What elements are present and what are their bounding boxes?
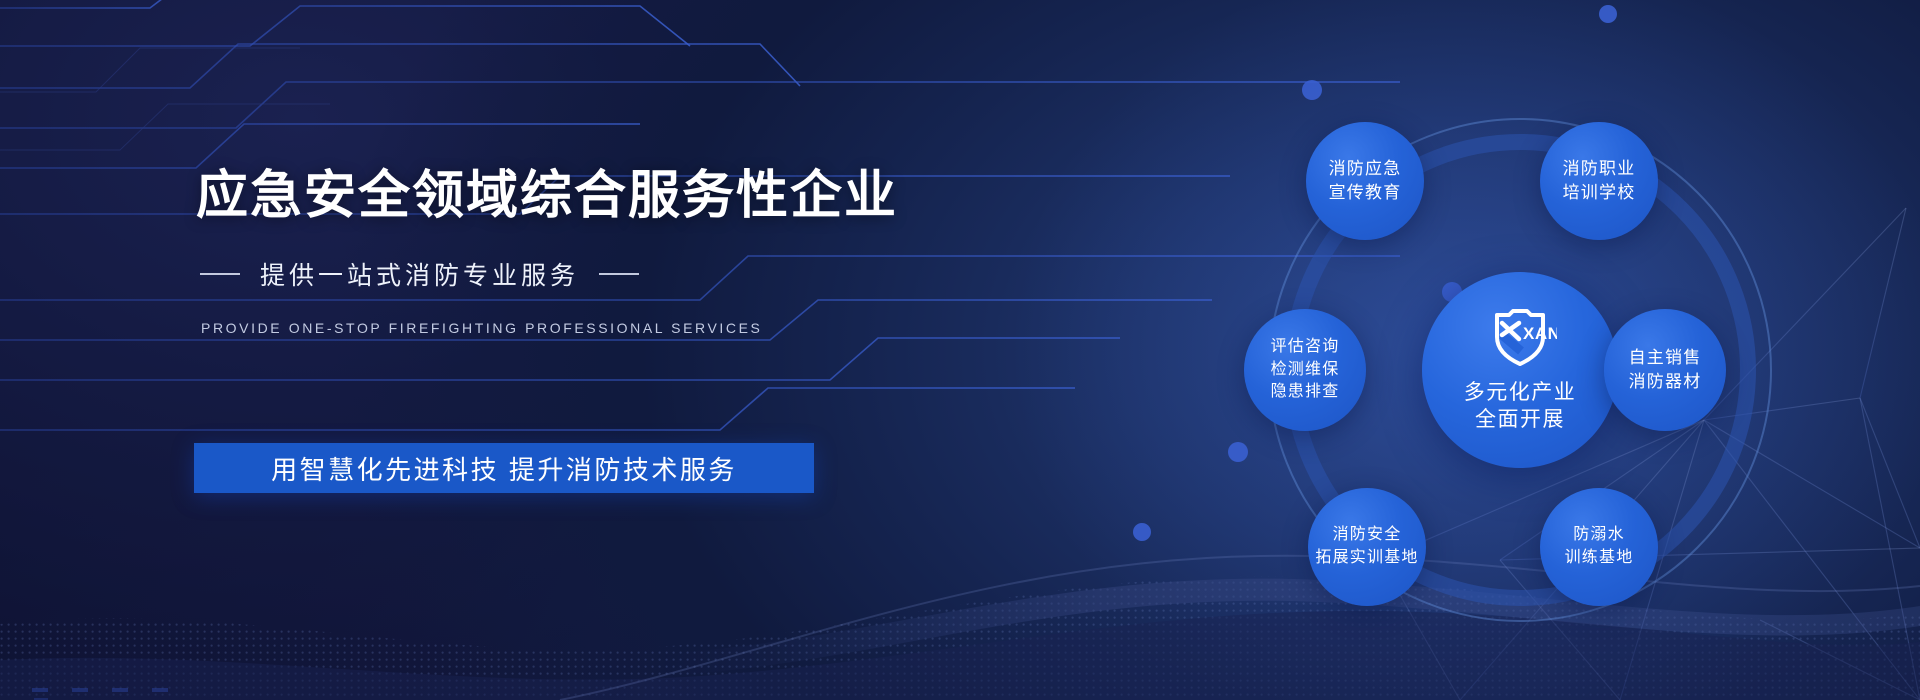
center-node-line-1: 多元化产业 <box>1464 379 1577 406</box>
node-line-1: 评估咨询 <box>1271 336 1340 359</box>
node-line-1: 防溺水 <box>1573 524 1625 547</box>
node-line-2: 检测维保 <box>1271 359 1340 382</box>
node-line-2: 培训学校 <box>1563 181 1636 205</box>
node-line-1: 消防职业 <box>1563 157 1636 181</box>
node-line-3: 隐患排查 <box>1271 381 1340 404</box>
node-line-2: 拓展实训基地 <box>1315 547 1418 570</box>
node-line-2: 宣传教育 <box>1329 181 1402 205</box>
node-safety-training-base[interactable]: 消防安全 拓展实训基地 <box>1308 488 1426 606</box>
services-circle-diagram: XAN 多元化产业 全面开展 消防应急 宣传教育 消防职业 培训学校 评估咨询 … <box>1130 70 1910 670</box>
node-line-2: 训练基地 <box>1565 547 1634 570</box>
node-equipment-sales[interactable]: 自主销售 消防器材 <box>1604 309 1726 431</box>
node-line-1: 消防安全 <box>1333 524 1402 547</box>
center-node[interactable]: XAN 多元化产业 全面开展 <box>1422 272 1618 468</box>
node-line-1: 消防应急 <box>1329 157 1402 181</box>
node-fire-vocational-school[interactable]: 消防职业 培训学校 <box>1540 122 1658 240</box>
cta-button-label: 用智慧化先进科技 提升消防技术服务 <box>271 450 737 487</box>
subtitle: 提供一站式消防专业服务 <box>260 256 579 292</box>
rule-left-icon <box>200 273 240 275</box>
svg-text:XAN: XAN <box>1523 324 1557 343</box>
node-anti-drowning-base[interactable]: 防溺水 训练基地 <box>1540 488 1658 606</box>
cta-button[interactable]: 用智慧化先进科技 提升消防技术服务 <box>194 443 814 493</box>
node-fire-emergency-publicity[interactable]: 消防应急 宣传教育 <box>1306 122 1424 240</box>
subtitle-row: 提供一站式消防专业服务 <box>200 256 976 292</box>
node-line-2: 消防器材 <box>1629 370 1702 394</box>
shield-icon: XAN <box>1483 307 1557 367</box>
hero-banner: 应急安全领域综合服务性企业 提供一站式消防专业服务 PROVIDE ONE-ST… <box>0 0 1920 700</box>
node-assessment-inspection[interactable]: 评估咨询 检测维保 隐患排查 <box>1244 309 1366 431</box>
center-node-line-2: 全面开展 <box>1475 406 1565 433</box>
rule-right-icon <box>599 273 639 275</box>
hero-copy: 应急安全领域综合服务性企业 提供一站式消防专业服务 PROVIDE ONE-ST… <box>196 168 976 336</box>
english-subtitle: PROVIDE ONE-STOP FIREFIGHTING PROFESSION… <box>201 320 976 336</box>
page-title: 应急安全领域综合服务性企业 <box>196 168 976 224</box>
node-line-1: 自主销售 <box>1629 346 1702 370</box>
